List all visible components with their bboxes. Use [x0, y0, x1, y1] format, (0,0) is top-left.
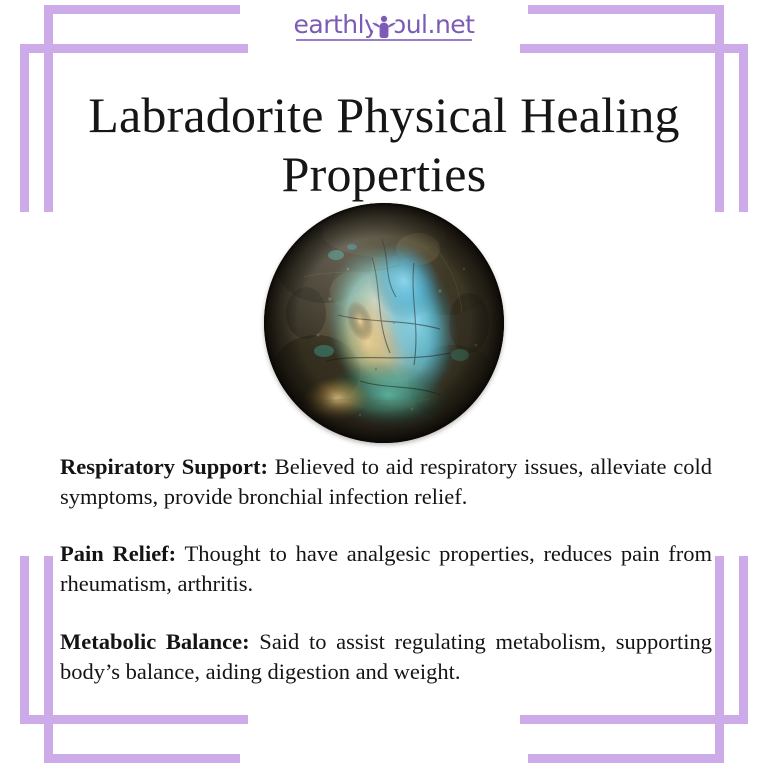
frame-bar-bottom-left-outer-horizontal	[20, 715, 248, 724]
labradorite-stone-image	[264, 203, 504, 443]
frame-bar-bottom-right-inner-vertical	[715, 556, 724, 763]
property-item-respiratory-support: Respiratory Support: Believed to aid res…	[60, 452, 712, 512]
frame-bar-bottom-left-inner-vertical	[44, 556, 53, 763]
page-title: Labradorite Physical Healing Properties	[64, 86, 704, 204]
labradorite-stone-graphic	[264, 203, 504, 443]
frame-bar-top-right-outer-horizontal	[520, 44, 748, 53]
frame-bar-top-left-outer-horizontal	[20, 44, 248, 53]
frame-bar-bottom-left-inner-horizontal	[44, 754, 240, 763]
frame-bar-bottom-right-outer-vertical	[739, 556, 748, 724]
frame-bar-top-left-outer-vertical	[20, 44, 29, 212]
property-label-pain-relief: Pain Relief:	[60, 541, 176, 566]
brand-logo[interactable]: earthlysoul.net	[0, 12, 768, 41]
frame-bar-bottom-right-outer-horizontal	[520, 715, 748, 724]
property-label-metabolic-balance: Metabolic Balance:	[60, 629, 250, 654]
frame-bar-top-right-outer-vertical	[739, 44, 748, 212]
property-label-respiratory-support: Respiratory Support:	[60, 454, 268, 479]
frame-bar-bottom-right-inner-horizontal	[528, 754, 724, 763]
healing-properties-list: Respiratory Support: Believed to aid res…	[60, 452, 712, 687]
brand-logo-wrap: earthlysoul.net	[294, 12, 475, 41]
stone-image-area	[0, 203, 768, 445]
labradorite-infographic-poster: earthlysoul.net Labradorite Physical Hea…	[0, 0, 768, 768]
property-item-pain-relief: Pain Relief: Thought to have analgesic p…	[60, 539, 712, 599]
person-silhouette-icon	[367, 11, 401, 41]
property-item-metabolic-balance: Metabolic Balance: Said to assist regula…	[60, 627, 712, 687]
frame-bar-bottom-left-outer-vertical	[20, 556, 29, 724]
